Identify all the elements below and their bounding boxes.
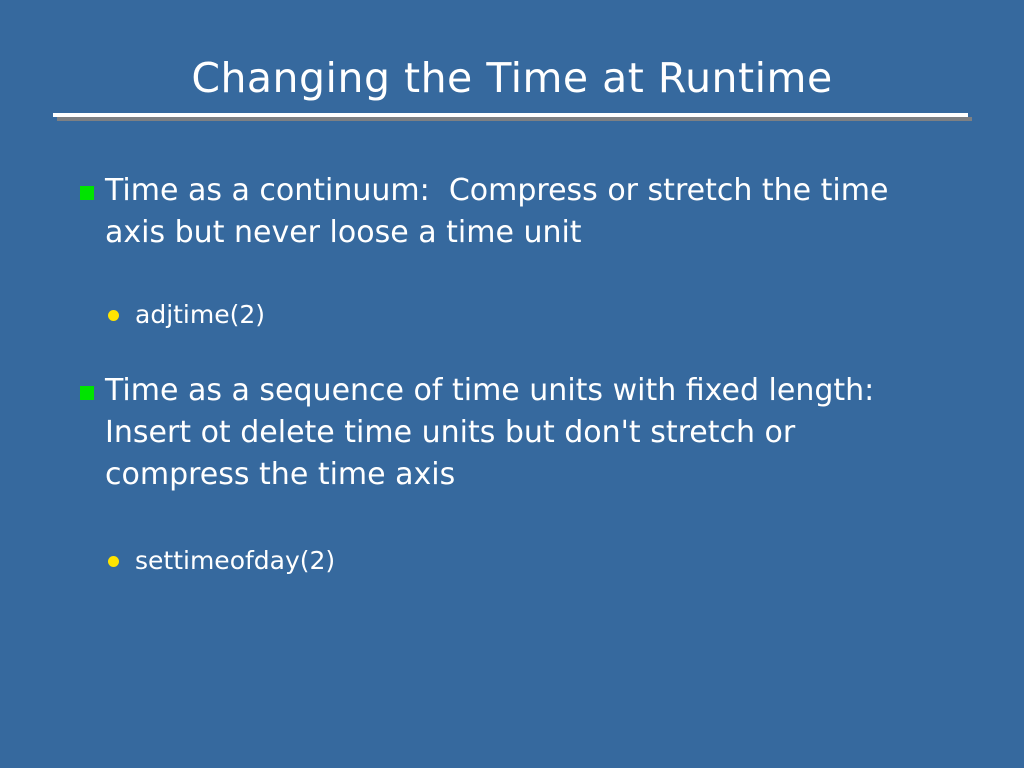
spacer [78, 496, 958, 544]
bullet-item-2: adjtime(2) [78, 298, 958, 332]
page-title: Changing the Time at Runtime [0, 52, 1024, 104]
disc-bullet-icon [108, 310, 119, 321]
title-divider-line [53, 113, 968, 117]
title-divider-shadow [57, 117, 972, 121]
bullet-item-label: settimeofday(2) [135, 544, 958, 578]
bullet-item-3: Time as a sequence of time units with fi… [78, 370, 935, 496]
bullet-item-1: Time as a continuum: Compress or stretch… [78, 170, 935, 254]
spacer [78, 332, 958, 370]
square-bullet-icon [80, 386, 94, 400]
bullet-item-label: Time as a continuum: Compress or stretch… [105, 170, 935, 254]
bullet-item-label: Time as a sequence of time units with fi… [105, 370, 935, 496]
bullet-item-4: settimeofday(2) [78, 544, 958, 578]
presentation-slide: Changing the Time at Runtime Time as a c… [0, 0, 1024, 768]
bullet-item-label: adjtime(2) [135, 298, 958, 332]
title-divider-rule [53, 113, 968, 123]
disc-bullet-icon [108, 556, 119, 567]
slide-title-block: Changing the Time at Runtime [0, 52, 1024, 104]
spacer [78, 254, 958, 298]
square-bullet-icon [80, 186, 94, 200]
slide-body: Time as a continuum: Compress or stretch… [78, 170, 958, 578]
